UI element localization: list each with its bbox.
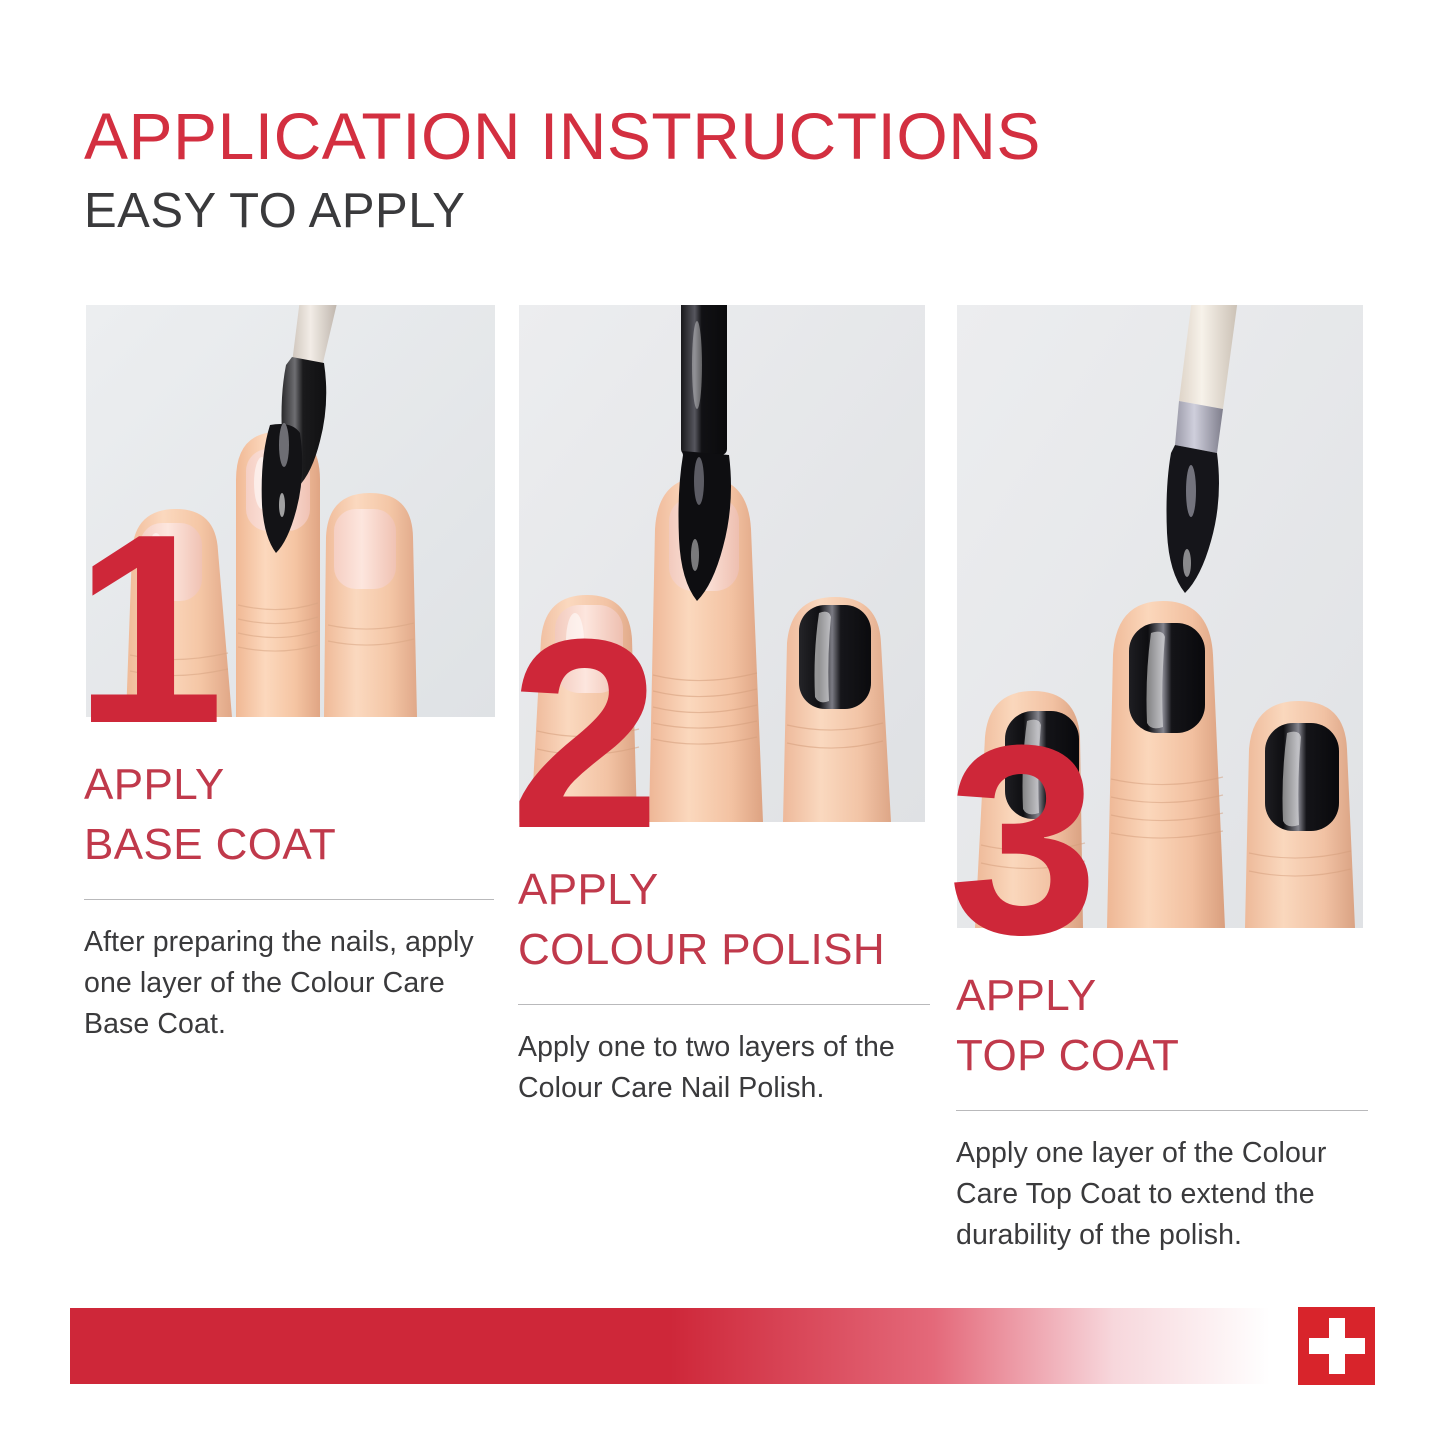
step-1-body: After preparing the nails, apply one lay…: [84, 922, 494, 1045]
step-3-heading-line1: APPLY: [956, 966, 1368, 1026]
page-title: APPLICATION INSTRUCTIONS: [84, 103, 1041, 169]
step-2-divider: [518, 1004, 930, 1005]
step-1-heading-line1: APPLY: [84, 755, 494, 815]
infographic-canvas: APPLICATION INSTRUCTIONS EASY TO APPLY: [0, 0, 1445, 1445]
step-3-heading-line2: TOP COAT: [956, 1026, 1368, 1086]
step-3-divider: [956, 1110, 1368, 1111]
footer-gradient-bar: [70, 1308, 1270, 1384]
step-3-body: Apply one layer of the Colour Care Top C…: [956, 1133, 1368, 1256]
step-2-number: 2: [510, 630, 656, 841]
swiss-cross-horizontal-bar: [1309, 1338, 1365, 1354]
swiss-flag-icon: [1298, 1307, 1375, 1385]
step-1-text-block: APPLY BASE COAT After preparing the nail…: [84, 755, 494, 1045]
step-1-number: 1: [74, 525, 220, 736]
step-3-text-block: APPLY TOP COAT Apply one layer of the Co…: [956, 966, 1368, 1256]
step-3-number: 3: [948, 736, 1094, 947]
step-2-text-block: APPLY COLOUR POLISH Apply one to two lay…: [518, 860, 930, 1109]
step-2-heading-line1: APPLY: [518, 860, 930, 920]
step-2-heading-line2: COLOUR POLISH: [518, 920, 930, 980]
step-2-body: Apply one to two layers of the Colour Ca…: [518, 1027, 930, 1109]
step-1-divider: [84, 899, 494, 900]
step-1-heading-line2: BASE COAT: [84, 815, 494, 875]
page-subtitle: EASY TO APPLY: [84, 185, 466, 237]
